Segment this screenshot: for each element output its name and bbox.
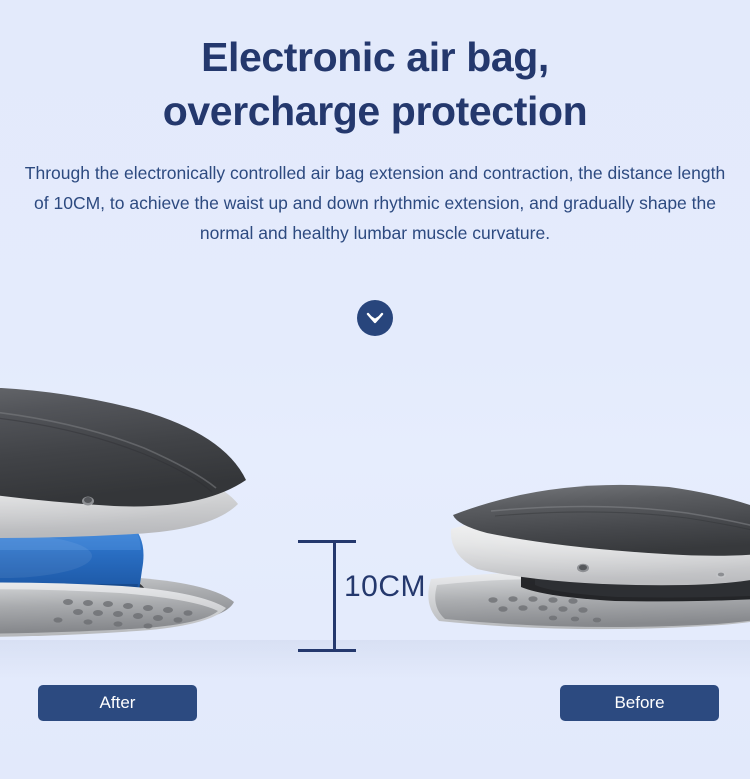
after-button[interactable]: After xyxy=(38,685,197,721)
dimension-label: 10CM xyxy=(344,572,426,602)
headline-line-1: Electronic air bag, xyxy=(201,34,549,80)
dimension-tick-bottom xyxy=(298,649,356,652)
dimension-tick-top xyxy=(298,540,356,543)
product-feature-page: Electronic air bag, overcharge protectio… xyxy=(0,0,750,779)
header-section: Electronic air bag, overcharge protectio… xyxy=(0,0,750,249)
massager-device-collapsed xyxy=(425,455,750,655)
header-description: Through the electronically controlled ai… xyxy=(0,158,750,248)
dimension-bracket-icon: 10CM xyxy=(298,536,438,656)
chevron-down-icon xyxy=(365,311,385,325)
dimension-line-vertical xyxy=(333,540,336,652)
before-button[interactable]: Before xyxy=(560,685,719,721)
scroll-down-button[interactable] xyxy=(357,300,393,336)
page-title: Electronic air bag, overcharge protectio… xyxy=(0,30,750,138)
headline-line-2: overcharge protection xyxy=(40,84,710,138)
